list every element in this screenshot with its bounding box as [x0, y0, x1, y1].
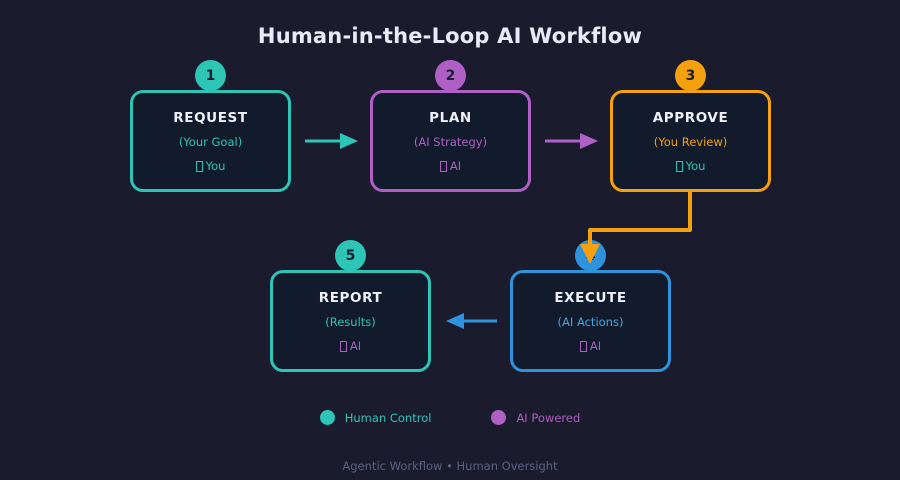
step-badge-1-label: 1 — [206, 68, 216, 84]
step-badge-3: 3 — [675, 60, 706, 91]
legend: Human Control AI Powered — [0, 410, 900, 425]
robot-icon — [440, 161, 447, 172]
step-badge-4-label: 4 — [586, 248, 596, 264]
legend-dot-human-icon — [320, 410, 335, 425]
robot-icon — [340, 341, 347, 352]
node-execute-actor: AI — [580, 339, 601, 353]
step-badge-1: 1 — [195, 60, 226, 91]
node-request-title: REQUEST — [173, 110, 247, 126]
node-request-subtitle: (Your Goal) — [179, 135, 242, 149]
node-report-subtitle: (Results) — [325, 315, 376, 329]
node-approve-title: APPROVE — [653, 110, 729, 126]
step-badge-5-label: 5 — [346, 248, 356, 264]
node-execute-actor-label: AI — [590, 339, 601, 353]
person-icon — [676, 161, 683, 172]
node-approve-subtitle: (You Review) — [654, 135, 727, 149]
page-title: Human-in-the-Loop AI Workflow — [0, 24, 900, 48]
node-plan-title: PLAN — [429, 110, 472, 126]
footer-caption: Agentic Workflow • Human Oversight — [0, 459, 900, 473]
node-request-actor: You — [196, 159, 226, 173]
step-badge-4: 4 — [575, 240, 606, 271]
node-request[interactable]: REQUEST (Your Goal) You — [130, 90, 291, 192]
node-execute-subtitle: (AI Actions) — [558, 315, 624, 329]
workflow-diagram: Human-in-the-Loop AI Workflow 1 2 3 — [0, 0, 900, 480]
node-report-title: REPORT — [319, 290, 383, 306]
node-request-actor-label: You — [206, 159, 226, 173]
connector-plan-to-approve — [545, 133, 598, 149]
node-approve[interactable]: APPROVE (You Review) You — [610, 90, 771, 192]
step-badge-5: 5 — [335, 240, 366, 271]
node-report-actor: AI — [340, 339, 361, 353]
legend-dot-ai-icon — [491, 410, 506, 425]
node-approve-actor: You — [676, 159, 706, 173]
node-plan-actor: AI — [440, 159, 461, 173]
legend-item-human-control: Human Control — [320, 410, 432, 425]
legend-label-ai-powered: AI Powered — [516, 411, 580, 425]
node-report[interactable]: REPORT (Results) AI — [270, 270, 431, 372]
node-plan-subtitle: (AI Strategy) — [414, 135, 487, 149]
node-plan[interactable]: PLAN (AI Strategy) AI — [370, 90, 531, 192]
connector-request-to-plan — [305, 133, 358, 149]
person-icon — [196, 161, 203, 172]
robot-icon — [580, 341, 587, 352]
legend-label-human-control: Human Control — [345, 411, 432, 425]
connector-execute-to-report — [446, 313, 497, 329]
step-badge-2-label: 2 — [446, 68, 456, 84]
step-badge-2: 2 — [435, 60, 466, 91]
step-badge-3-label: 3 — [686, 68, 696, 84]
node-execute-title: EXECUTE — [554, 290, 626, 306]
node-plan-actor-label: AI — [450, 159, 461, 173]
node-execute[interactable]: EXECUTE (AI Actions) AI — [510, 270, 671, 372]
node-approve-actor-label: You — [686, 159, 706, 173]
node-report-actor-label: AI — [350, 339, 361, 353]
legend-item-ai-powered: AI Powered — [491, 410, 580, 425]
